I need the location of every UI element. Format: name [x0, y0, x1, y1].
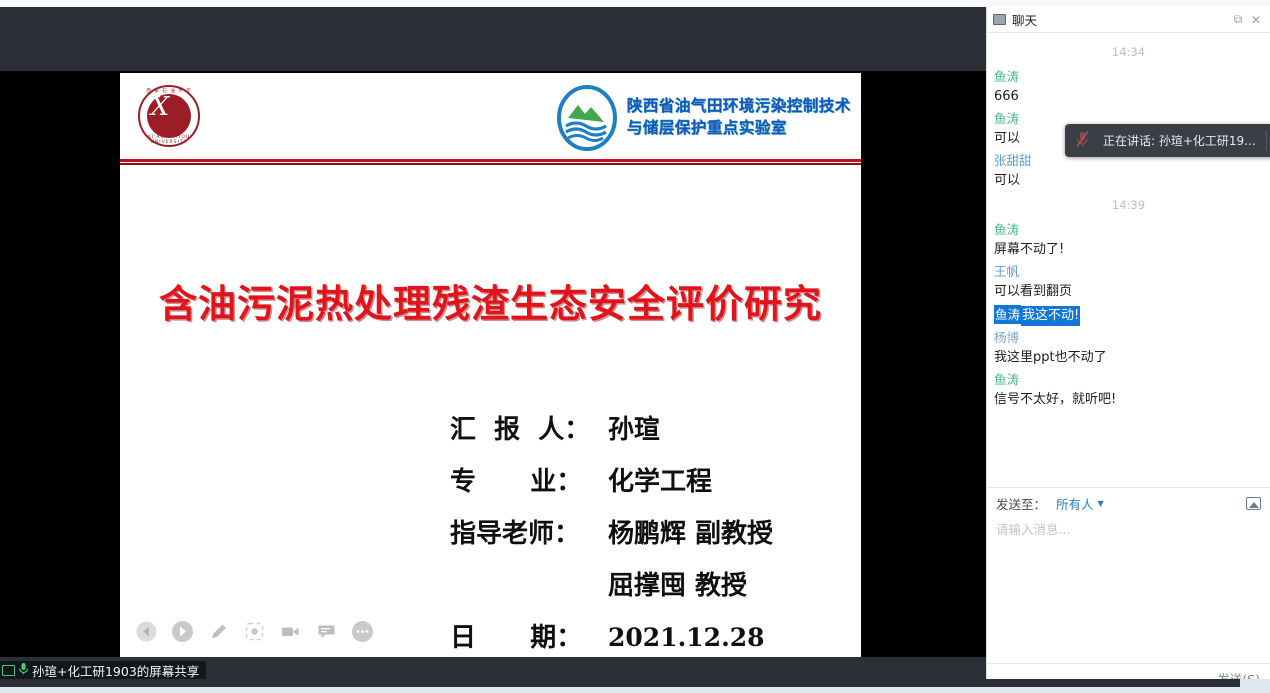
chat-timestamp: 14:34	[994, 45, 1263, 59]
chat-message-text: 可以	[994, 171, 1263, 192]
speaking-indicator-overlay[interactable]: 正在讲话: 孙瑄+化工研19... ↰	[1065, 124, 1270, 157]
chevron-down-icon[interactable]: ▼	[1098, 499, 1104, 508]
info-row-advisor-2: 屈撑囤 教授	[450, 565, 850, 603]
lab-logo-text: 陕西省油气田环境污染控制技术 与储层保护重点实验室	[627, 98, 851, 138]
chat-panel: 聊天 ⧉ ✕ 14:34鱼涛666鱼涛可以张甜甜可以14:39鱼涛屏幕不动了!王…	[986, 7, 1270, 693]
image-attach-icon[interactable]	[1246, 497, 1261, 510]
lab-logo-line-1: 陕西省油气田环境污染控制技术	[627, 98, 851, 116]
info-label: 日 期：	[450, 617, 608, 654]
info-value: 屈撑囤 教授	[608, 565, 747, 602]
info-label: 汇 报 人：	[450, 409, 608, 446]
comment-button[interactable]	[316, 621, 337, 642]
chat-message-text: 666	[994, 87, 1263, 108]
send-to-label: 发送至：	[996, 494, 1046, 513]
close-icon[interactable]: ✕	[1248, 12, 1264, 28]
chat-message-text: 可以看到翻页	[994, 282, 1263, 303]
slide-title: 含油污泥热处理残渣生态安全评价研究	[120, 273, 861, 328]
lab-logo-line-2: 与储层保护重点实验室	[627, 120, 851, 138]
mic-muted-icon	[1071, 130, 1093, 152]
chat-message-list[interactable]: 14:34鱼涛666鱼涛可以张甜甜可以14:39鱼涛屏幕不动了!王帆可以看到翻页…	[987, 33, 1270, 487]
windows-taskbar[interactable]	[0, 679, 1270, 693]
popout-icon[interactable]: ⧉	[1230, 12, 1246, 28]
chat-sender-name: 鱼涛	[994, 370, 1263, 389]
info-value: 孙瑄	[608, 409, 660, 446]
record-video-button[interactable]	[280, 621, 301, 642]
info-value: 化学工程	[608, 461, 712, 498]
chat-sender-name: 王帆	[994, 262, 1263, 281]
seal-monogram: X	[138, 85, 182, 129]
chat-timestamp: 14:39	[994, 198, 1263, 212]
lab-emblem-icon	[554, 85, 620, 151]
screen-share-status-bar: 孙瑄+化工研1903的屏幕共享	[0, 661, 206, 679]
chat-message-text: 我这不动!	[1021, 306, 1080, 327]
slide-header: 西 安 石 油 大 学 X XI'AN SHIYOU UNIVERSITY	[120, 73, 861, 165]
top-edge-strip	[0, 0, 1270, 7]
slide-info-block: 汇 报 人： 孙瑄 专 业： 化学工程 指导老师： 杨鹏辉 副教授 屈撑囤 教授	[450, 409, 850, 657]
meeting-screen: 西 安 石 油 大 学 X XI'AN SHIYOU UNIVERSITY	[0, 0, 1270, 693]
lab-logo: 陕西省油气田环境污染控制技术 与储层保护重点实验室	[554, 85, 851, 151]
meeting-stage: 西 安 石 油 大 学 X XI'AN SHIYOU UNIVERSITY	[0, 7, 986, 671]
chat-title-bar: 聊天 ⧉ ✕	[987, 7, 1270, 33]
laser-pointer-button[interactable]	[244, 621, 265, 642]
chat-message-text: 我这里ppt也不动了	[994, 348, 1263, 369]
chat-window-icon	[993, 14, 1006, 25]
microphone-icon	[18, 662, 29, 678]
send-to-dropdown[interactable]: 所有人	[1056, 494, 1094, 513]
header-rule-primary	[120, 159, 861, 162]
speaking-text: 正在讲话: 孙瑄+化工研19...	[1093, 132, 1266, 149]
info-row-advisor: 指导老师： 杨鹏辉 副教授	[450, 513, 850, 551]
next-slide-button[interactable]	[172, 621, 193, 642]
chat-message-text: 信号不太好，就听吧!	[994, 390, 1263, 411]
info-value: 2021.12.28	[608, 623, 765, 652]
presentation-toolbar[interactable]	[136, 621, 373, 642]
pen-annotate-button[interactable]	[208, 621, 229, 642]
chat-sender-name: 鱼涛	[994, 305, 1021, 324]
chat-compose-area[interactable]: 发送至： 所有人 ▼ 请输入消息...	[987, 487, 1270, 663]
seal-arc-bottom-text: XI'AN SHIYOU UNIVERSITY	[138, 135, 200, 145]
chat-panel-title: 聊天	[1012, 10, 1037, 29]
chat-sender-name: 杨博	[994, 328, 1263, 347]
send-to-row: 发送至： 所有人 ▼	[996, 494, 1261, 513]
screen-share-icon	[2, 665, 15, 676]
chat-message-text: 屏幕不动了!	[994, 240, 1263, 261]
share-bar-label: 孙瑄+化工研1903的屏幕共享	[32, 661, 199, 680]
university-seal-icon: 西 安 石 油 大 学 X XI'AN SHIYOU UNIVERSITY	[138, 85, 200, 147]
header-rule-secondary	[120, 163, 861, 165]
info-label: 专 业：	[450, 461, 608, 498]
previous-slide-button[interactable]	[136, 621, 157, 642]
shared-presentation-slide[interactable]: 西 安 石 油 大 学 X XI'AN SHIYOU UNIVERSITY	[120, 73, 861, 657]
collapse-overlay-button[interactable]: ↰	[1267, 133, 1270, 149]
chat-sender-name: 鱼涛	[994, 67, 1263, 86]
taskbar-dark-strip	[0, 679, 1240, 687]
info-label: 指导老师：	[450, 513, 608, 550]
info-row-presenter: 汇 报 人： 孙瑄	[450, 409, 850, 447]
more-options-button[interactable]	[352, 621, 373, 642]
chat-message-input[interactable]: 请输入消息...	[996, 519, 1261, 659]
info-row-date: 日 期： 2021.12.28	[450, 617, 850, 655]
chat-sender-name: 鱼涛	[994, 220, 1263, 239]
info-value: 杨鹏辉 副教授	[608, 513, 773, 550]
info-row-major: 专 业： 化学工程	[450, 461, 850, 499]
